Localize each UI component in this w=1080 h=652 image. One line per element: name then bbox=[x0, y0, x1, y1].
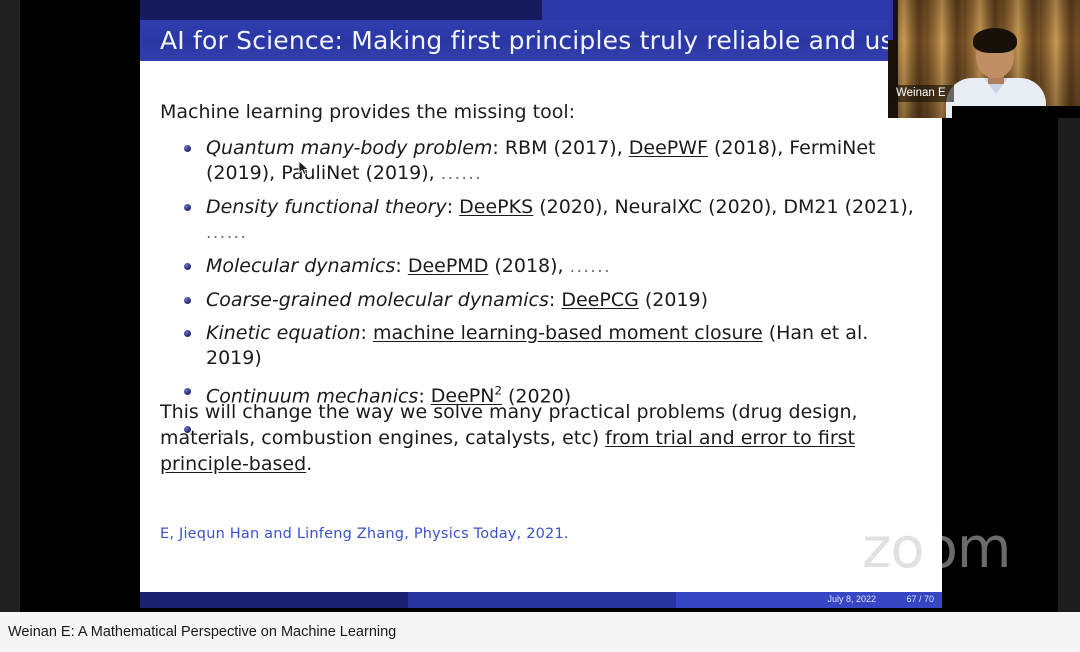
video-bottom-letterbox bbox=[952, 106, 1080, 118]
bullet-separator: : bbox=[447, 196, 459, 218]
participant-video-thumbnail[interactable]: Weinan E bbox=[888, 0, 1080, 118]
bullet-method-superscript: 2 bbox=[494, 384, 502, 398]
stage-left-letterbox bbox=[0, 0, 20, 612]
speaker-hair bbox=[973, 28, 1017, 53]
bullet-topic: Kinetic equation bbox=[206, 322, 361, 344]
slide-bullet-item: Coarse-grained molecular dynamics: DeePC… bbox=[182, 288, 922, 313]
slide-body: Machine learning provides the missing to… bbox=[140, 61, 942, 586]
bullet-topic: Density functional theory bbox=[206, 196, 447, 218]
bullet-marker-icon bbox=[184, 330, 191, 337]
screen-root: AI for Science: Making first principles … bbox=[0, 0, 1080, 652]
bullet-method-link: machine learning-based moment closure bbox=[373, 322, 763, 344]
bullet-separator: : bbox=[492, 137, 504, 159]
slide-bullet-item: Kinetic equation: machine learning-based… bbox=[182, 321, 922, 371]
slide-title: AI for Science: Making first principles … bbox=[140, 26, 942, 55]
slide-bullet-item: Quantum many-body problem: RBM (2017), D… bbox=[182, 136, 922, 187]
bullet-text: (2020), NeuralXC (2020), DM21 (2021), bbox=[533, 196, 914, 218]
session-caption-bar: Weinan E: A Mathematical Perspective on … bbox=[0, 612, 1080, 652]
slide-footer-bar: July 8, 2022 67 / 70 bbox=[140, 592, 942, 608]
bullet-topic: Quantum many-body problem bbox=[206, 137, 492, 159]
slide-top-strip bbox=[140, 0, 942, 20]
slide-footer-page-number: 67 / 70 bbox=[906, 594, 934, 604]
bullet-separator: : bbox=[361, 322, 373, 344]
bullet-method-link: DeePCG bbox=[561, 289, 638, 311]
slide-strip-segment-dark bbox=[140, 0, 542, 20]
slide-footer-date: July 8, 2022 bbox=[827, 594, 876, 604]
bullet-separator: : bbox=[395, 255, 407, 277]
bullet-separator: : bbox=[549, 289, 561, 311]
bullet-marker-icon bbox=[184, 388, 191, 395]
bullet-marker-icon bbox=[184, 297, 191, 304]
bullet-text: (2018), bbox=[488, 255, 569, 277]
paragraph-after: . bbox=[306, 453, 312, 475]
mouse-cursor-icon bbox=[298, 160, 310, 176]
slide-title-bar: AI for Science: Making first principles … bbox=[140, 20, 942, 61]
bullet-ellipsis: ...... bbox=[441, 164, 482, 184]
session-title: Weinan E: A Mathematical Perspective on … bbox=[0, 624, 396, 640]
video-slide-bleed bbox=[888, 0, 893, 40]
slide-bullet-item: Density functional theory: DeePKS (2020)… bbox=[182, 195, 922, 246]
bullet-text: (2019) bbox=[639, 289, 708, 311]
bullet-marker-icon bbox=[184, 204, 191, 211]
participant-name-label: Weinan E bbox=[888, 85, 954, 102]
bullet-method-link: DeePMD bbox=[408, 255, 489, 277]
bullet-ellipsis: ...... bbox=[570, 257, 611, 277]
screen-share-stage: AI for Science: Making first principles … bbox=[0, 0, 1080, 612]
slide-strip-segment-bright bbox=[542, 0, 942, 20]
bullet-ellipsis: ...... bbox=[206, 223, 247, 243]
presentation-slide: AI for Science: Making first principles … bbox=[140, 0, 942, 608]
bullet-topic: Coarse-grained molecular dynamics bbox=[206, 289, 549, 311]
slide-lead-text: Machine learning provides the missing to… bbox=[160, 101, 575, 123]
bullet-method-link: DeePWF bbox=[629, 137, 708, 159]
slide-bullet-item: Molecular dynamics: DeePMD (2018), .....… bbox=[182, 254, 922, 280]
slide-footer-segment-3: July 8, 2022 67 / 70 bbox=[676, 592, 942, 608]
bullet-method-link: DeePKS bbox=[459, 196, 533, 218]
slide-citation: E, Jiequn Han and Linfeng Zhang, Physics… bbox=[160, 526, 569, 542]
bullet-text: RBM (2017), bbox=[505, 137, 629, 159]
slide-footer-segment-2 bbox=[408, 592, 676, 608]
bullet-marker-icon bbox=[184, 145, 191, 152]
slide-paragraph: This will change the way we solve many p… bbox=[160, 399, 900, 477]
bullet-topic: Molecular dynamics bbox=[206, 255, 395, 277]
slide-footer-segment-1 bbox=[140, 592, 408, 608]
bullet-marker-icon bbox=[184, 263, 191, 270]
